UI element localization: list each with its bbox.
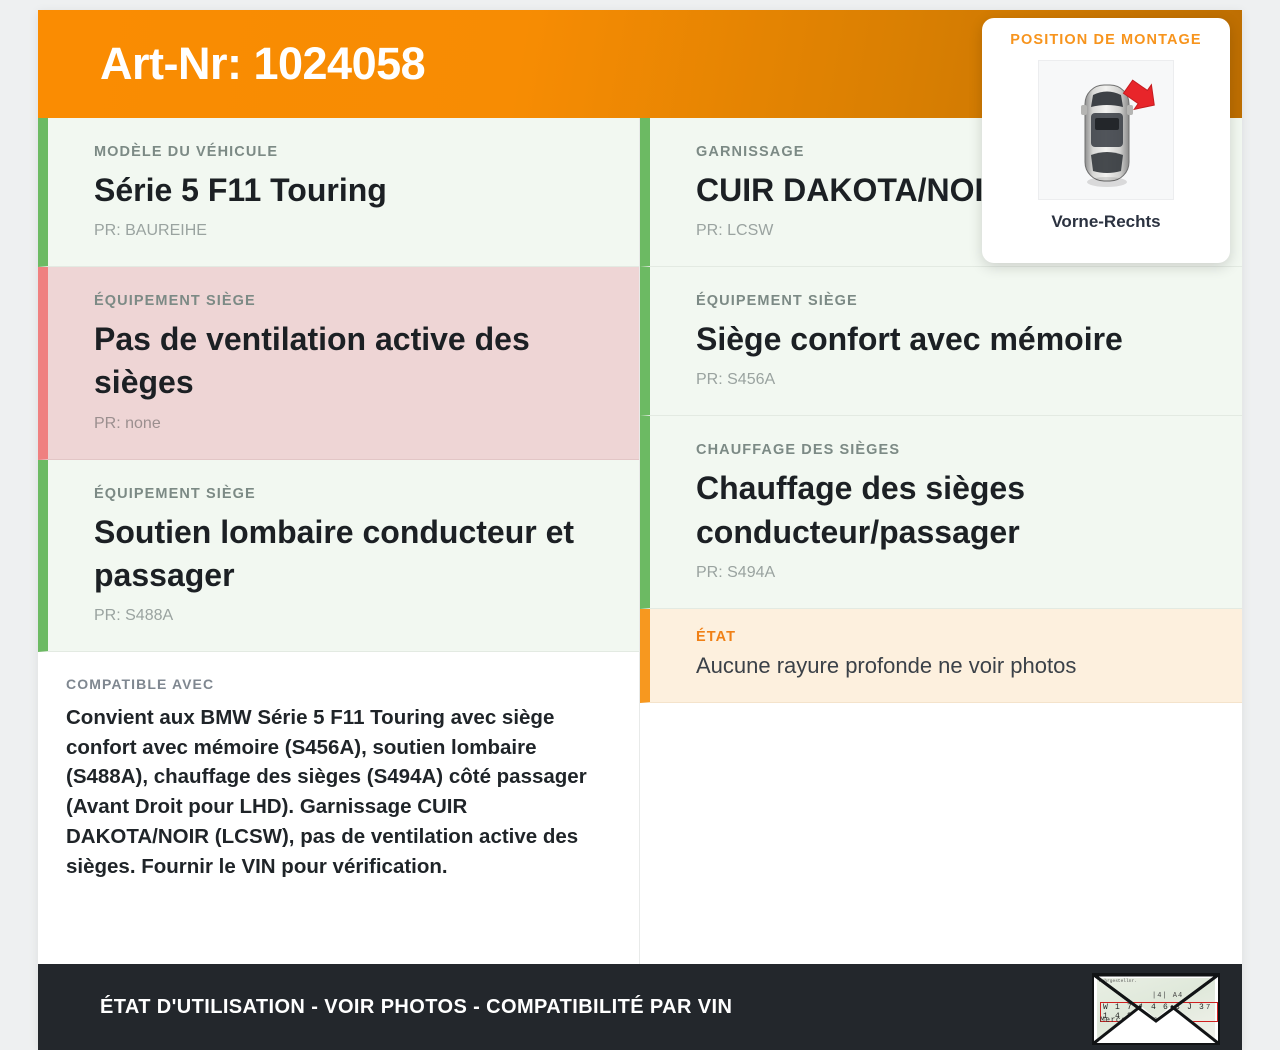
spec-card-no-seat-ventilation[interactable]: ÉQUIPEMENT SIÈGE Pas de ventilation acti… <box>38 267 639 459</box>
footer-bar: ÉTAT D'UTILISATION - VOIR PHOTOS - COMPA… <box>38 964 1242 1050</box>
car-top-view-with-arrow-icon <box>1038 60 1174 200</box>
envelope-outline-icon <box>1094 975 1218 1043</box>
spec-pr-code: PR: BAUREIHE <box>94 222 613 240</box>
footer-text: ÉTAT D'UTILISATION - VOIR PHOTOS - COMPA… <box>100 996 732 1019</box>
spec-pr-code: PR: S494A <box>696 564 1216 582</box>
right-column-filler <box>640 703 1242 964</box>
envelope-vin-document-icon: Fahrgestellnr. |4| A4 W 1 7 1 4 6 3 J 3 … <box>1092 973 1220 1045</box>
page-title: Art-Nr: 1024058 <box>100 38 425 90</box>
spec-label: ÉQUIPEMENT SIÈGE <box>94 486 613 502</box>
compatibility-block: COMPATIBLE AVEC Convient aux BMW Série 5… <box>38 652 639 907</box>
spec-card-vehicle-model[interactable]: MODÈLE DU VÉHICULE Série 5 F11 Touring P… <box>38 118 639 267</box>
condition-label: ÉTAT <box>696 629 1216 645</box>
spec-value: Soutien lombaire conducteur et passager <box>94 511 613 597</box>
spec-label: MODÈLE DU VÉHICULE <box>94 144 613 160</box>
spec-value: Série 5 F11 Touring <box>94 169 613 212</box>
compatibility-text: Convient aux BMW Série 5 F11 Touring ave… <box>66 703 609 881</box>
mounting-position-card[interactable]: POSITION DE MONTAGE <box>982 18 1230 263</box>
spec-label: ÉQUIPEMENT SIÈGE <box>696 293 1216 309</box>
spec-value: Pas de ventilation active des sièges <box>94 318 613 404</box>
spec-pr-code: PR: none <box>94 415 613 433</box>
spec-card-lumbar-support[interactable]: ÉQUIPEMENT SIÈGE Soutien lombaire conduc… <box>38 460 639 652</box>
spec-label: CHAUFFAGE DES SIÈGES <box>696 442 1216 458</box>
spec-card-seat-heating[interactable]: CHAUFFAGE DES SIÈGES Chauffage des siège… <box>640 416 1242 608</box>
spec-label: ÉQUIPEMENT SIÈGE <box>94 293 613 309</box>
spec-value: Chauffage des sièges conducteur/passager <box>696 467 1216 553</box>
spec-card-condition[interactable]: ÉTAT Aucune rayure profonde ne voir phot… <box>640 609 1242 704</box>
compatibility-label: COMPATIBLE AVEC <box>66 676 609 692</box>
left-column-filler <box>38 907 639 964</box>
page-root: Art-Nr: 1024058 MODÈLE DU VÉHICULE Série… <box>0 0 1280 1050</box>
spec-value: Siège confort avec mémoire <box>696 318 1216 361</box>
mounting-position-title: POSITION DE MONTAGE <box>1010 32 1201 48</box>
mounting-position-caption: Vorne-Rechts <box>1051 212 1160 232</box>
condition-value: Aucune rayure profonde ne voir photos <box>696 651 1216 681</box>
left-column: MODÈLE DU VÉHICULE Série 5 F11 Touring P… <box>38 118 639 964</box>
spec-card-comfort-seat-memory[interactable]: ÉQUIPEMENT SIÈGE Siège confort avec mémo… <box>640 267 1242 416</box>
spec-pr-code: PR: S456A <box>696 371 1216 389</box>
spec-pr-code: PR: S488A <box>94 607 613 625</box>
